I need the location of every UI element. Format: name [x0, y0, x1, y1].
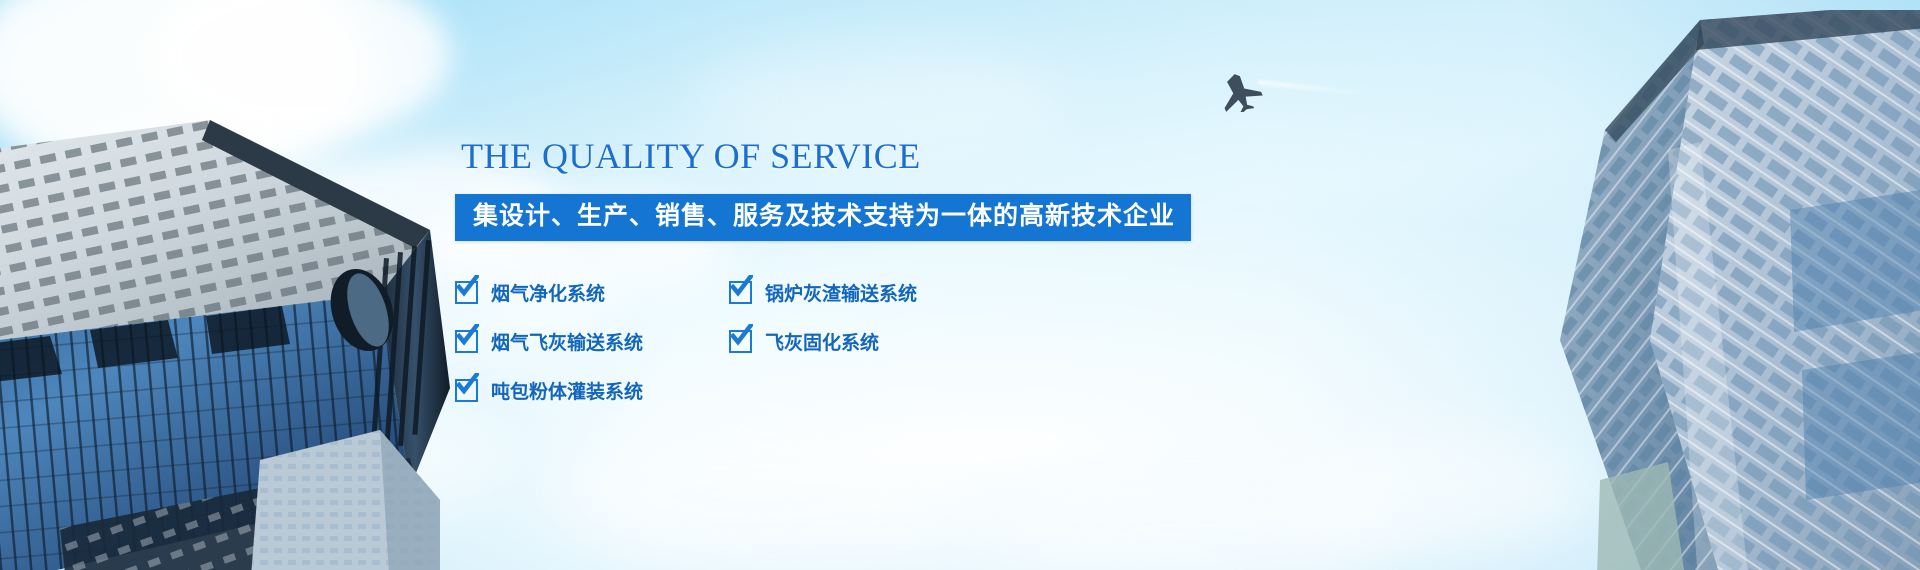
- feature-label: 烟气飞灰输送系统: [491, 328, 643, 355]
- feature-list: 烟气净化系统 锅炉灰渣输送系统 烟气飞灰输送系统 飞灰固化系统: [455, 279, 1215, 404]
- feature-item-0: 烟气净化系统: [455, 279, 729, 306]
- banner-content: THE QUALITY OF SERVICE 集设计、生产、销售、服务及技术支持…: [455, 136, 1215, 404]
- feature-label: 烟气净化系统: [491, 279, 605, 306]
- checkbox-checked-icon: [729, 330, 752, 353]
- subtitle-bar: 集设计、生产、销售、服务及技术支持为一体的高新技术企业: [455, 194, 1191, 240]
- feature-item-1: 锅炉灰渣输送系统: [729, 279, 1215, 306]
- cloud-icon: [560, 430, 980, 560]
- feature-item-3: 飞灰固化系统: [729, 328, 1215, 355]
- checkbox-checked-icon: [455, 379, 478, 402]
- feature-item-2: 烟气飞灰输送系统: [455, 328, 729, 355]
- feature-label: 吨包粉体灌装系统: [491, 377, 643, 404]
- checkbox-checked-icon: [455, 330, 478, 353]
- checkbox-checked-icon: [455, 281, 478, 304]
- checkbox-checked-icon: [729, 281, 752, 304]
- skyscraper-right-icon: [1400, 10, 1920, 570]
- airplane-icon: [1215, 70, 1267, 112]
- skyscraper-distant-icon: [230, 390, 450, 570]
- feature-label: 锅炉灰渣输送系统: [765, 279, 917, 306]
- feature-label: 飞灰固化系统: [765, 328, 879, 355]
- page-title: THE QUALITY OF SERVICE: [461, 136, 1215, 177]
- hero-banner: THE QUALITY OF SERVICE 集设计、生产、销售、服务及技术支持…: [0, 0, 1920, 570]
- feature-item-4: 吨包粉体灌装系统: [455, 377, 729, 404]
